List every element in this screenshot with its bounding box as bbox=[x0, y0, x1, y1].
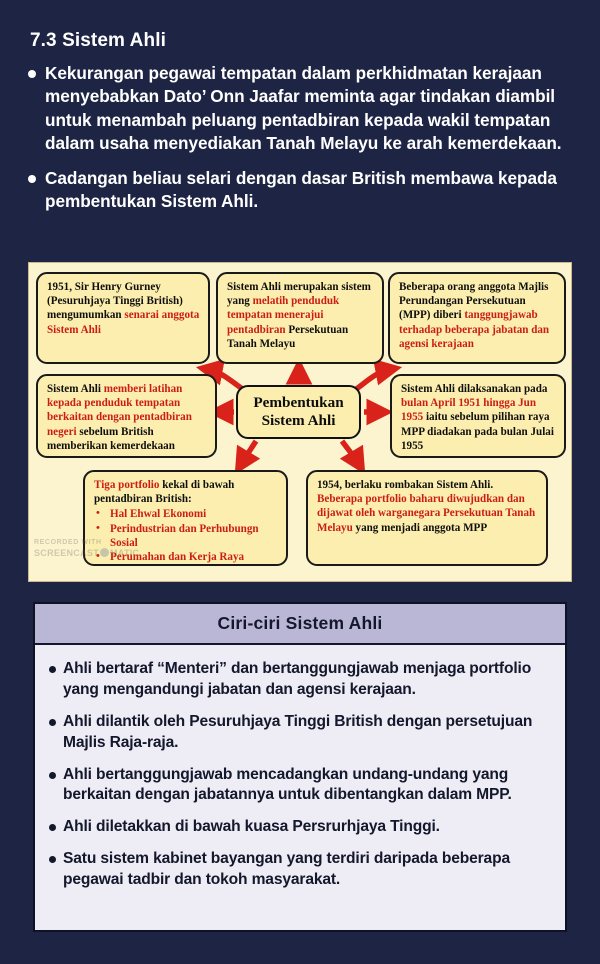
diagram-box-text: 1954, berlaku rombakan Sistem Ahli. Bebe… bbox=[317, 478, 538, 535]
bullet-dot-icon bbox=[49, 772, 56, 779]
list-item: Satu sistem kabinet bayangan yang terdir… bbox=[49, 849, 549, 891]
bullet-dot-icon bbox=[49, 719, 56, 726]
list-item: Hal Ehwal Ekonomi bbox=[94, 507, 278, 521]
watermark-line3: MATIC bbox=[110, 548, 139, 558]
bullet-dot-icon bbox=[28, 175, 36, 183]
ciri-ciri-heading: Ciri-ciri Sistem Ahli bbox=[35, 604, 565, 645]
ciri-ciri-list: Ahli bertaraf “Menteri” dan bertanggungj… bbox=[35, 645, 565, 912]
box-sistem-merupakan: Sistem Ahli merupakan sistem yang melati… bbox=[216, 272, 384, 364]
ciri-ciri-card: Ciri-ciri Sistem Ahli Ahli bertaraf “Men… bbox=[33, 602, 567, 932]
list-item: Cadangan beliau selari dengan dasar Brit… bbox=[28, 167, 576, 214]
watermark-circle-icon bbox=[100, 548, 109, 557]
center-node-line1: Pembentukan bbox=[253, 394, 343, 412]
box-1951-gurney: 1951, Sir Henry Gurney (Pesuruhjaya Ting… bbox=[36, 272, 210, 364]
watermark-line2: SCREENCAST bbox=[34, 548, 99, 558]
box-memberi-latihan: Sistem Ahli memberi latihan kepada pendu… bbox=[36, 374, 217, 458]
ciri-item-text: Ahli diletakkan di bawah kuasa Persrurhj… bbox=[63, 817, 440, 838]
box-1954-rombakan: 1954, berlaku rombakan Sistem Ahli. Bebe… bbox=[306, 470, 548, 566]
intro-bullet-list: Kekurangan pegawai tempatan dalam perkhi… bbox=[28, 62, 576, 224]
bullet-dot-icon bbox=[49, 856, 56, 863]
diagram-box-text: Beberapa orang anggota Majlis Perundanga… bbox=[399, 280, 556, 351]
bullet-dot-icon bbox=[49, 666, 56, 673]
screencast-o-matic-watermark: RECORDED WITH SCREENCASTMATIC bbox=[34, 539, 139, 559]
intro-bullet-text: Cadangan beliau selari dengan dasar Brit… bbox=[45, 167, 576, 214]
bullet-dot-icon bbox=[49, 824, 56, 831]
diagram-box-text: Sistem Ahli memberi latihan kepada pendu… bbox=[47, 382, 207, 453]
box-anggota-mpp: Beberapa orang anggota Majlis Perundanga… bbox=[388, 272, 566, 364]
watermark-line1: RECORDED WITH bbox=[34, 539, 139, 548]
intro-bullet-text: Kekurangan pegawai tempatan dalam perkhi… bbox=[45, 62, 576, 156]
page-title: 7.3 Sistem Ahli bbox=[30, 30, 166, 52]
ciri-item-text: Ahli bertanggungjawab mencadangkan undan… bbox=[63, 765, 549, 807]
diagram-box-text: Tiga portfolio kekal di bawah pentadbira… bbox=[94, 478, 278, 506]
ciri-item-text: Satu sistem kabinet bayangan yang terdir… bbox=[63, 849, 549, 891]
diagram-center-node: Pembentukan Sistem Ahli bbox=[236, 385, 361, 439]
bullet-dot-icon bbox=[28, 70, 36, 78]
list-item: Ahli bertanggungjawab mencadangkan undan… bbox=[49, 765, 549, 807]
diagram-box-text: Sistem Ahli dilaksanakan pada bulan Apri… bbox=[401, 382, 556, 453]
diagram-box-text: 1951, Sir Henry Gurney (Pesuruhjaya Ting… bbox=[47, 280, 200, 337]
slide-root: 7.3 Sistem Ahli Kekurangan pegawai tempa… bbox=[0, 0, 600, 964]
box-dilaksanakan: Sistem Ahli dilaksanakan pada bulan Apri… bbox=[390, 374, 566, 458]
ciri-item-text: Ahli dilantik oleh Pesuruhjaya Tinggi Br… bbox=[63, 712, 549, 754]
list-item: Ahli dilantik oleh Pesuruhjaya Tinggi Br… bbox=[49, 712, 549, 754]
center-node-line2: Sistem Ahli bbox=[262, 412, 336, 430]
list-item: Ahli bertaraf “Menteri” dan bertanggungj… bbox=[49, 659, 549, 701]
ciri-item-text: Ahli bertaraf “Menteri” dan bertanggungj… bbox=[63, 659, 549, 701]
list-item: Kekurangan pegawai tempatan dalam perkhi… bbox=[28, 62, 576, 156]
list-item: Ahli diletakkan di bawah kuasa Persrurhj… bbox=[49, 817, 549, 838]
diagram-box-text: Sistem Ahli merupakan sistem yang melati… bbox=[227, 280, 374, 351]
